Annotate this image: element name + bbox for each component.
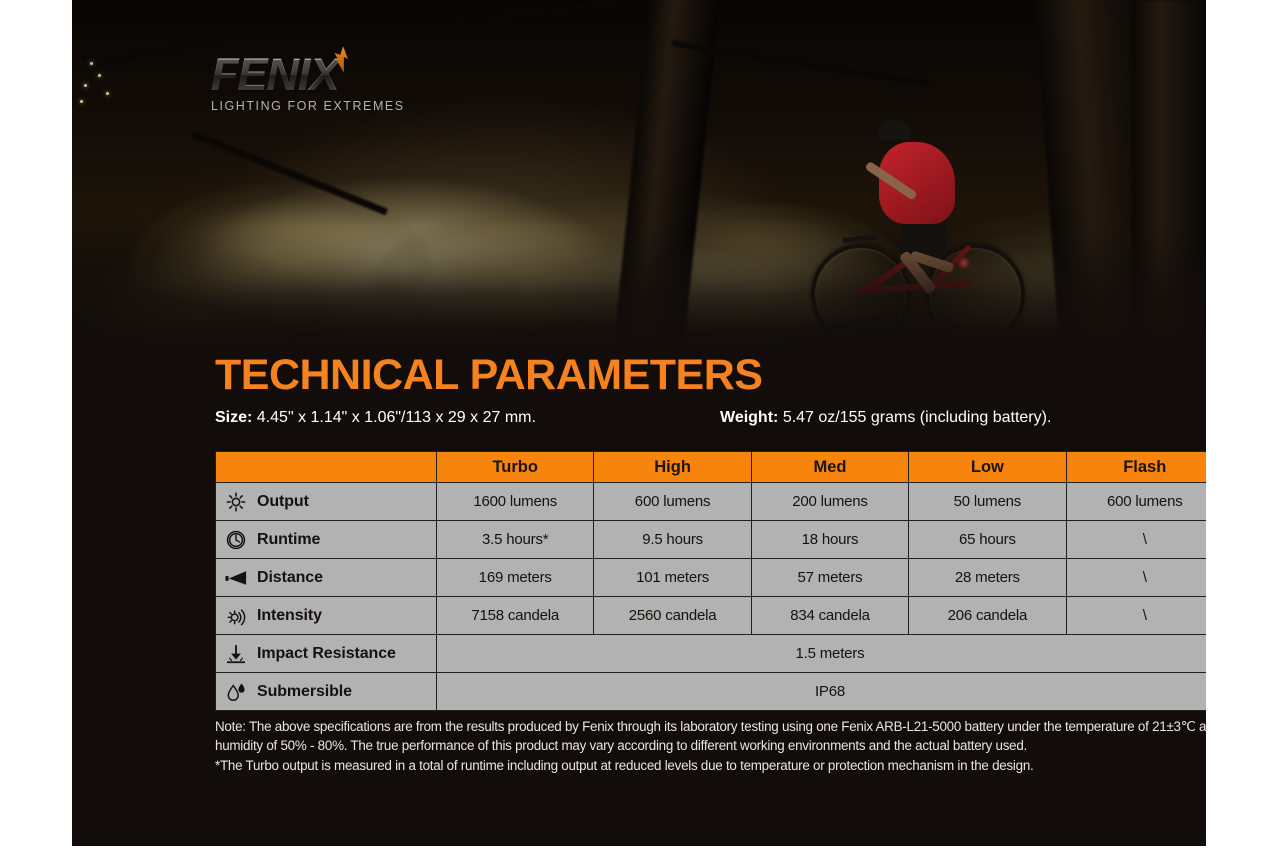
- cell-impact-resistance-value: 1.5 meters: [437, 635, 1207, 673]
- spec-table-wrapper: Turbo High Med Low Flash: [215, 451, 1206, 711]
- foliage-highlight: [84, 84, 87, 87]
- cell-distance-low: 28 meters: [909, 559, 1066, 597]
- footnote-turbo-asterisk: *The Turbo output is measured in a total…: [215, 757, 1206, 776]
- column-header-med: Med: [751, 452, 908, 483]
- photo-fade-overlay: [72, 226, 1206, 346]
- cell-distance-flash: \: [1066, 559, 1206, 597]
- row-label-runtime: Runtime: [216, 521, 437, 559]
- table-corner-cell: [216, 452, 437, 483]
- table-row: Impact Resistance 1.5 meters: [216, 635, 1207, 673]
- foliage-highlight: [90, 62, 93, 65]
- page-root: FENIX LIGHTING FOR EXTREMES TECHNICAL PA…: [0, 0, 1280, 854]
- table-row: Distance 169 meters 101 meters 57 meters…: [216, 559, 1207, 597]
- table-header-row: Turbo High Med Low Flash: [216, 452, 1207, 483]
- cell-intensity-flash: \: [1066, 597, 1206, 635]
- clock-icon: [224, 528, 248, 552]
- page-title: TECHNICAL PARAMETERS: [215, 351, 762, 400]
- footnote-specifications: Note: The above specifications are from …: [215, 718, 1206, 755]
- rider-helmet: [877, 120, 911, 140]
- row-label-impact-resistance: Impact Resistance: [216, 635, 437, 673]
- brightness-sun-icon: [224, 490, 248, 514]
- light-intensity-icon: [224, 604, 248, 628]
- fenix-logo: FENIX LIGHTING FOR EXTREMES: [211, 52, 411, 114]
- weight-value: 5.47 oz/155 grams (including battery).: [783, 409, 1052, 426]
- logo-tagline: LIGHTING FOR EXTREMES: [211, 99, 411, 113]
- cell-runtime-high: 9.5 hours: [594, 521, 751, 559]
- foliage-highlight: [98, 74, 101, 77]
- row-label-text: Submersible: [257, 683, 352, 701]
- row-label-output: Output: [216, 483, 437, 521]
- row-label-text: Output: [257, 493, 309, 511]
- water-drop-icon: [224, 680, 248, 704]
- table-row: Output 1600 lumens 600 lumens 200 lumens…: [216, 483, 1207, 521]
- column-header-low: Low: [909, 452, 1066, 483]
- table-row: Intensity 7158 candela 2560 candela 834 …: [216, 597, 1207, 635]
- weight-label: Weight:: [720, 409, 778, 426]
- cell-runtime-turbo: 3.5 hours*: [437, 521, 594, 559]
- cell-submersible-value: IP68: [437, 673, 1207, 711]
- impact-arrow-icon: [224, 642, 248, 666]
- cell-distance-high: 101 meters: [594, 559, 751, 597]
- cell-output-high: 600 lumens: [594, 483, 751, 521]
- column-header-turbo: Turbo: [437, 452, 594, 483]
- logo-wordmark: FENIX: [211, 52, 411, 98]
- foliage-highlight: [80, 100, 83, 103]
- product-spec-panel: FENIX LIGHTING FOR EXTREMES TECHNICAL PA…: [72, 0, 1206, 846]
- row-label-text: Impact Resistance: [257, 645, 396, 663]
- cell-intensity-med: 834 candela: [751, 597, 908, 635]
- row-label-submersible: Submersible: [216, 673, 437, 711]
- cell-intensity-turbo: 7158 candela: [437, 597, 594, 635]
- cell-output-low: 50 lumens: [909, 483, 1066, 521]
- size-value: 4.45" x 1.14" x 1.06"/113 x 29 x 27 mm.: [257, 409, 536, 426]
- cell-runtime-flash: \: [1066, 521, 1206, 559]
- cell-distance-med: 57 meters: [751, 559, 908, 597]
- cell-output-med: 200 lumens: [751, 483, 908, 521]
- size-label: Size:: [215, 409, 252, 426]
- spec-table-head: Turbo High Med Low Flash: [216, 452, 1207, 483]
- row-label-intensity: Intensity: [216, 597, 437, 635]
- cell-output-flash: 600 lumens: [1066, 483, 1206, 521]
- cell-intensity-high: 2560 candela: [594, 597, 751, 635]
- row-label-text: Distance: [257, 569, 323, 587]
- size-spec: Size: 4.45" x 1.14" x 1.06"/113 x 29 x 2…: [215, 409, 536, 427]
- row-label-text: Runtime: [257, 531, 320, 549]
- column-header-high: High: [594, 452, 751, 483]
- spec-table: Turbo High Med Low Flash: [215, 451, 1206, 711]
- table-row: Runtime 3.5 hours* 9.5 hours 18 hours 65…: [216, 521, 1207, 559]
- beam-cone-icon: [224, 566, 248, 590]
- cell-distance-turbo: 169 meters: [437, 559, 594, 597]
- cell-intensity-low: 206 candela: [909, 597, 1066, 635]
- cell-runtime-med: 18 hours: [751, 521, 908, 559]
- row-label-text: Intensity: [257, 607, 322, 625]
- footnotes: Note: The above specifications are from …: [215, 718, 1206, 776]
- cell-output-turbo: 1600 lumens: [437, 483, 594, 521]
- weight-spec: Weight: 5.47 oz/155 grams (including bat…: [720, 409, 1051, 427]
- row-label-distance: Distance: [216, 559, 437, 597]
- cell-runtime-low: 65 hours: [909, 521, 1066, 559]
- column-header-flash: Flash: [1066, 452, 1206, 483]
- spec-table-body: Output 1600 lumens 600 lumens 200 lumens…: [216, 483, 1207, 711]
- foliage-highlight: [106, 92, 109, 95]
- table-row: Submersible IP68: [216, 673, 1207, 711]
